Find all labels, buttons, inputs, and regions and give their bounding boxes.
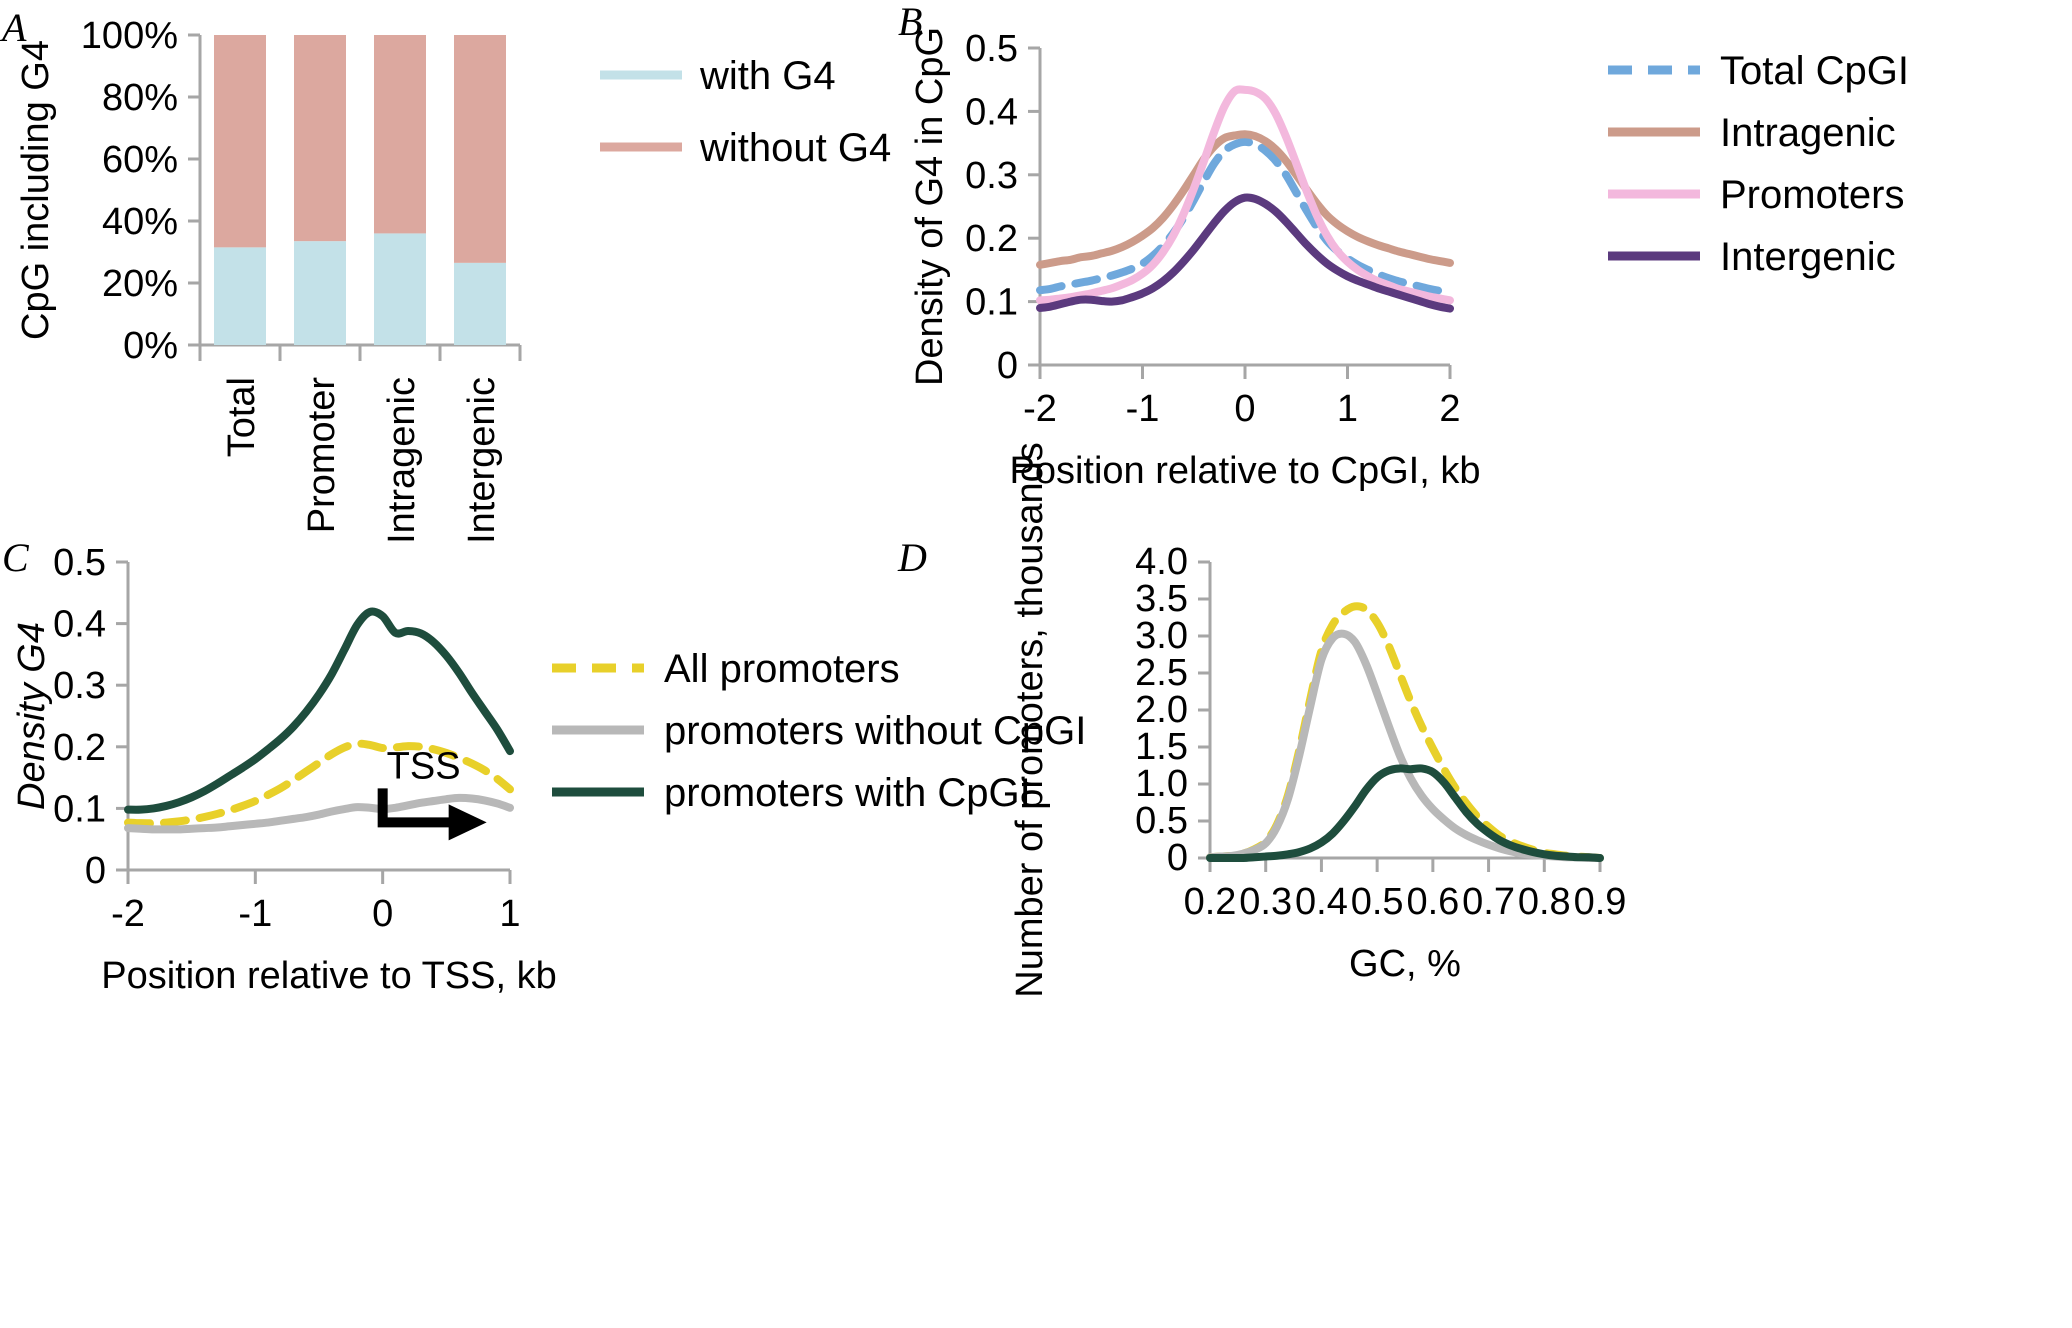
panel-c-tss-label: TSS <box>387 745 461 787</box>
panel-d: D 00.51.01.52.02.53.03.54.00.20.30.40.50… <box>890 530 2072 1328</box>
panel-a-legend-label: with G4 <box>699 54 836 98</box>
panel-c-y-tick-label: 0.5 <box>53 542 106 584</box>
panel-b-y-tick-label: 0.2 <box>965 218 1018 260</box>
panel-d-y-tick-label: 0 <box>1167 837 1188 879</box>
panel-d-y-axis-title: Number of promoters, thousands <box>1009 442 1051 998</box>
panel-a-bar-segment <box>214 247 266 345</box>
panel-a-category-label: Total <box>221 377 263 457</box>
panel-a-bar-segment <box>374 35 426 233</box>
panel-a-y-tick-label: 0% <box>123 325 178 367</box>
panel-b-x-tick-label: 1 <box>1337 388 1358 430</box>
panel-b-legend-label: Promoters <box>1720 173 1905 217</box>
panel-b-x-axis-title: Position relative to CpGI, kb <box>1010 450 1481 492</box>
panel-c-y-tick-label: 0.1 <box>53 788 106 830</box>
panel-c-x-tick-label: -1 <box>238 893 272 935</box>
panel-a-bar-segment <box>454 263 506 345</box>
panel-a-y-tick-label: 60% <box>102 139 178 181</box>
panel-d-x-tick-label: 0.4 <box>1295 881 1348 923</box>
figure-root: A 0%20%40%60%80%100%TotalPromoterIntrage… <box>0 0 2072 1328</box>
panel-b-x-tick-label: -2 <box>1023 388 1057 430</box>
panel-b-chart: 00.10.20.30.40.5-2-1012Density of G4 in … <box>890 0 2072 530</box>
panel-b-y-tick-label: 0.3 <box>965 155 1018 197</box>
panel-b-y-tick-label: 0.5 <box>965 28 1018 70</box>
panel-c-chart: 00.10.20.30.40.5-2-101TSSDensity G4Posit… <box>0 530 900 1328</box>
panel-a-category-label: Intragenic <box>381 377 423 544</box>
panel-a-bar-segment <box>214 35 266 247</box>
panel-d-y-tick-label: 2.5 <box>1135 652 1188 694</box>
panel-c-y-tick-label: 0.4 <box>53 604 106 646</box>
panel-c-x-tick-label: -2 <box>111 893 145 935</box>
panel-c-legend-label: All promoters <box>664 647 900 691</box>
panel-d-x-tick-label: 0.2 <box>1184 881 1237 923</box>
panel-d-x-axis-title: GC, % <box>1349 943 1461 985</box>
panel-b-legend-label: Intragenic <box>1720 111 1896 155</box>
panel-b-y-axis-title: Density of G4 in CpG <box>909 27 951 386</box>
panel-d-y-tick-label: 1.0 <box>1135 763 1188 805</box>
panel-b-y-tick-label: 0 <box>997 345 1018 387</box>
panel-b-legend-label: Intergenic <box>1720 235 1896 279</box>
panel-b: B 00.10.20.30.40.5-2-1012Density of G4 i… <box>890 0 2072 530</box>
panel-b-x-tick-label: 0 <box>1234 388 1255 430</box>
panel-a-y-tick-label: 80% <box>102 77 178 119</box>
panel-d-y-tick-label: 1.5 <box>1135 726 1188 768</box>
panel-a-y-tick-label: 40% <box>102 201 178 243</box>
panel-c-x-tick-label: 1 <box>499 893 520 935</box>
panel-d-y-tick-label: 3.0 <box>1135 615 1188 657</box>
panel-c-y-tick-label: 0.2 <box>53 727 106 769</box>
panel-b-x-tick-label: -1 <box>1126 388 1160 430</box>
panel-c-y-tick-label: 0.3 <box>53 665 106 707</box>
panel-c-letter: C <box>2 538 29 578</box>
panel-b-x-tick-label: 2 <box>1439 388 1460 430</box>
panel-a-bar-segment <box>374 233 426 345</box>
panel-c-x-axis-title: Position relative to TSS, kb <box>101 955 557 997</box>
panel-d-x-tick-label: 0.8 <box>1518 881 1571 923</box>
panel-a-category-label: Intergenic <box>461 377 503 544</box>
panel-d-letter: D <box>898 538 927 578</box>
panel-a-y-axis-title: CpG including G4 <box>15 40 57 340</box>
panel-a-letter: A <box>2 8 26 48</box>
panel-c: C 00.10.20.30.40.5-2-101TSSDensity G4Pos… <box>0 530 900 1328</box>
panel-d-y-tick-label: 3.5 <box>1135 578 1188 620</box>
panel-a-chart: 0%20%40%60%80%100%TotalPromoterIntrageni… <box>0 0 900 530</box>
panel-d-x-tick-label: 0.6 <box>1406 881 1459 923</box>
panel-d-x-tick-label: 0.7 <box>1462 881 1515 923</box>
panel-b-legend-label: Total CpGI <box>1720 49 1909 93</box>
panel-a: A 0%20%40%60%80%100%TotalPromoterIntrage… <box>0 0 900 530</box>
tss-arrow-head <box>449 804 487 840</box>
panel-b-series-line <box>1040 142 1450 292</box>
panel-a-bar-segment <box>294 35 346 241</box>
panel-c-y-axis-title: Density G4 <box>11 622 53 810</box>
panel-a-legend-label: without G4 <box>699 126 891 170</box>
panel-b-letter: B <box>898 2 922 42</box>
panel-d-y-tick-label: 2.0 <box>1135 689 1188 731</box>
panel-b-y-tick-label: 0.1 <box>965 282 1018 324</box>
panel-a-y-tick-label: 20% <box>102 263 178 305</box>
panel-c-x-tick-label: 0 <box>372 893 393 935</box>
panel-d-x-tick-label: 0.3 <box>1239 881 1292 923</box>
panel-d-y-tick-label: 4.0 <box>1135 541 1188 583</box>
panel-d-series-line <box>1210 606 1600 858</box>
panel-d-x-tick-label: 0.5 <box>1351 881 1404 923</box>
panel-a-category-label: Promoter <box>301 377 343 534</box>
panel-d-chart: 00.51.01.52.02.53.03.54.00.20.30.40.50.6… <box>890 530 2072 1328</box>
panel-c-y-tick-label: 0 <box>85 850 106 892</box>
panel-d-x-tick-label: 0.9 <box>1574 881 1627 923</box>
panel-a-bar-segment <box>294 241 346 345</box>
panel-a-y-tick-label: 100% <box>81 15 178 57</box>
panel-d-series-line <box>1210 634 1600 858</box>
panel-b-y-tick-label: 0.4 <box>965 91 1018 133</box>
panel-d-y-tick-label: 0.5 <box>1135 800 1188 842</box>
panel-a-bar-segment <box>454 35 506 263</box>
